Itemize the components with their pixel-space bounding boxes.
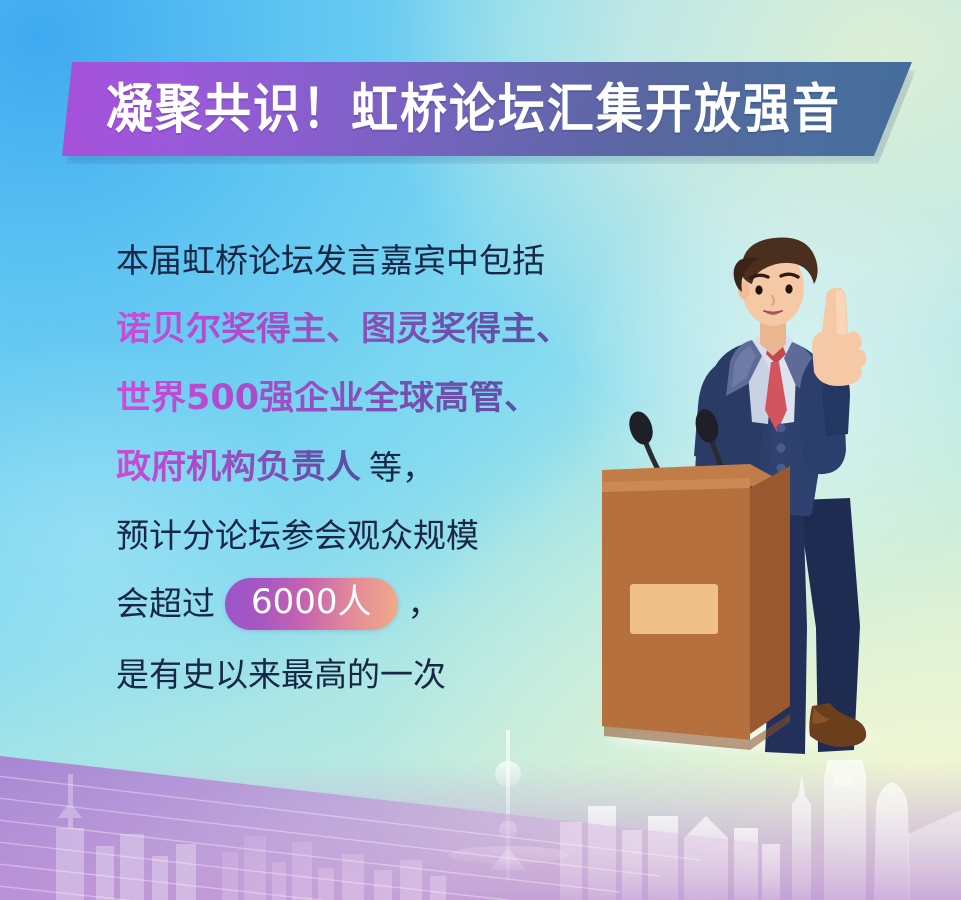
copy-line-4-tail: 等， bbox=[369, 451, 435, 484]
title-banner: 凝聚共识！虹桥论坛汇集开放强音 bbox=[0, 62, 961, 162]
band-building-4 bbox=[176, 844, 196, 900]
copy-line-1-text: 本届虹桥论坛发言嘉宾中包括 bbox=[116, 244, 545, 277]
band-tower-body bbox=[56, 828, 84, 900]
copy-line-5: 预计分论坛参会观众规模 bbox=[116, 519, 636, 552]
copy-line-5-text: 预计分论坛参会观众规模 bbox=[116, 519, 479, 552]
page-title: 凝聚共识！虹桥论坛汇集开放强音 bbox=[106, 83, 841, 136]
copy-line-6-suffix: ， bbox=[408, 587, 441, 620]
swfc-aperture bbox=[834, 774, 852, 786]
copy-line-2: 诺贝尔奖得主、图灵奖得主、 bbox=[116, 312, 636, 347]
band-building-3 bbox=[152, 856, 168, 900]
jacket-button-1 bbox=[777, 424, 786, 433]
eye-left bbox=[755, 285, 762, 294]
copy-line-6-prefix: 会超过 bbox=[116, 587, 215, 620]
body-copy: 本届虹桥论坛发言嘉宾中包括 诺贝尔奖得主、图灵奖得主、 世界500强企业全球高管… bbox=[116, 244, 636, 691]
pearl-tower-upper-sphere bbox=[495, 761, 521, 787]
copy-line-3: 世界500强企业全球高管、 bbox=[116, 381, 636, 416]
city-scenery bbox=[0, 670, 961, 900]
mic-left-head bbox=[625, 408, 656, 447]
copy-line-4-highlight: 政府机构负责人 bbox=[116, 450, 361, 485]
city-scenery-svg bbox=[0, 670, 961, 900]
copy-line-3-highlight: 世界500强企业全球高管、 bbox=[116, 381, 539, 416]
jacket-button-2 bbox=[777, 444, 786, 453]
band-building-2 bbox=[120, 834, 144, 900]
title-banner-shape: 凝聚共识！虹桥论坛汇集开放强音 bbox=[62, 62, 912, 156]
eye-right bbox=[785, 284, 792, 293]
poster-canvas: 凝聚共识！虹桥论坛汇集开放强音 本届虹桥论坛发言嘉宾中包括 诺贝尔奖得主、图灵奖… bbox=[0, 0, 961, 900]
copy-line-4: 政府机构负责人 等， bbox=[116, 450, 636, 485]
copy-line-1: 本届虹桥论坛发言嘉宾中包括 bbox=[116, 244, 636, 277]
podium-plaque bbox=[630, 584, 718, 634]
attendance-figure-badge: 6000人 bbox=[225, 578, 398, 630]
copy-line-6: 会超过 6000人 ， bbox=[116, 578, 636, 630]
copy-line-2-highlight: 诺贝尔奖得主、图灵奖得主、 bbox=[116, 312, 571, 347]
